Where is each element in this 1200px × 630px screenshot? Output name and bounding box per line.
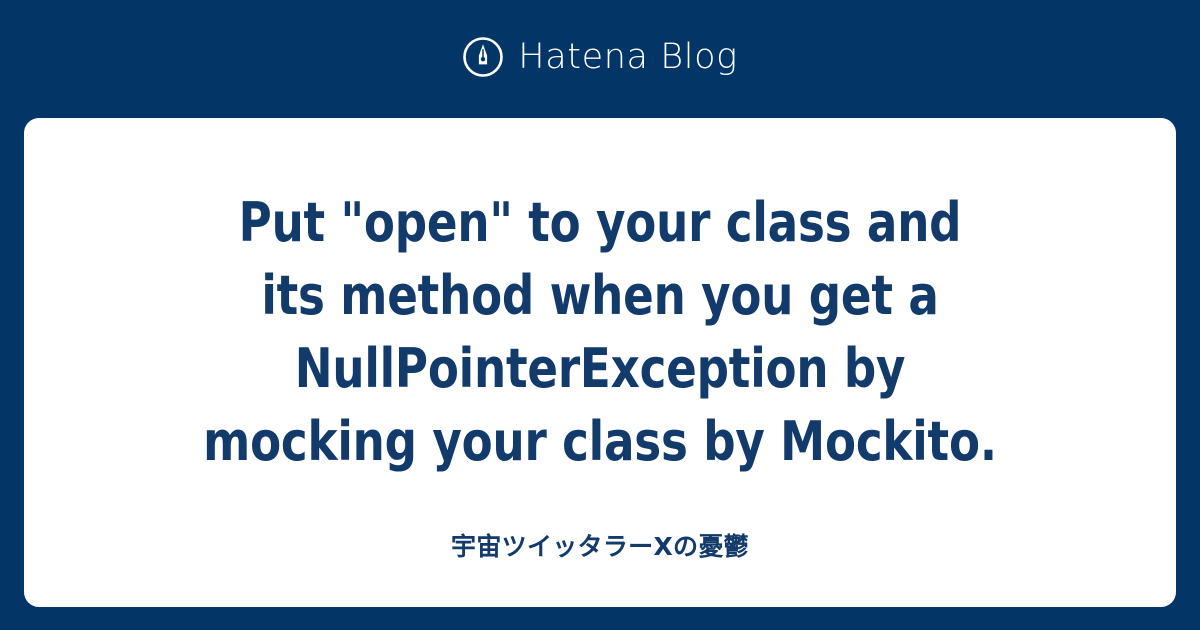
og-image-canvas: Hatena Blog Put "open" to your class and… bbox=[0, 0, 1200, 630]
brand-name-label: Hatena Blog bbox=[518, 40, 737, 75]
brand-header: Hatena Blog bbox=[0, 0, 1200, 118]
entry-title: Put "open" to your class and its method … bbox=[64, 186, 1135, 478]
hatena-blog-logo[interactable]: Hatena Blog bbox=[462, 36, 737, 78]
blog-name-label: 宇宙ツイッタラーXの憂鬱 bbox=[24, 534, 1176, 559]
entry-title-line: mocking your class by Mockito. bbox=[203, 410, 997, 473]
entry-title-line: its method when you get a bbox=[261, 264, 938, 327]
entry-title-line: Put "open" to your class and bbox=[239, 191, 962, 254]
pen-nib-in-circle-icon bbox=[462, 36, 504, 78]
entry-title-line: NullPointerException by bbox=[295, 337, 906, 400]
entry-card: Put "open" to your class and its method … bbox=[24, 118, 1176, 607]
